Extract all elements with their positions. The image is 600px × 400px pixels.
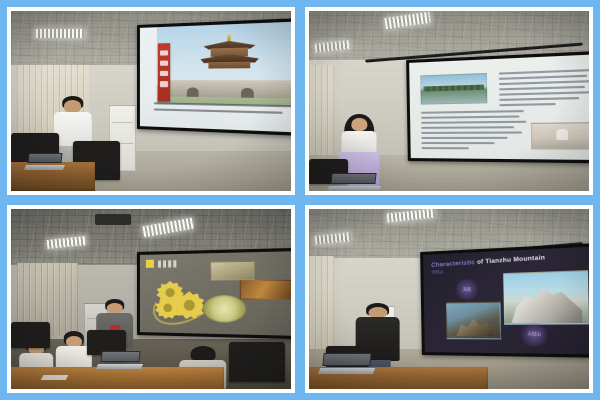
classroom-scene-tl bbox=[11, 11, 291, 191]
slide-text-block-1 bbox=[499, 69, 589, 110]
curtain-br bbox=[309, 256, 334, 350]
slide-title-accent: Characteristic bbox=[432, 260, 476, 269]
collage-cell-bottom-left[interactable] bbox=[7, 205, 295, 393]
projector-screen-br: Characteristic of Tianzhu Mountain 天柱山 天… bbox=[420, 242, 589, 357]
laptop-tr bbox=[331, 173, 376, 191]
slide-red-banner bbox=[158, 43, 170, 102]
slide-halo-icon-2: 天柱山 bbox=[519, 322, 550, 347]
gear-icon-2 bbox=[177, 295, 201, 316]
slide-photo-fried bbox=[240, 280, 291, 299]
ceiling-projector-bl bbox=[95, 214, 131, 225]
slide-halo-icon-1: 天柱 bbox=[454, 278, 481, 301]
slide-text-block-2 bbox=[421, 110, 528, 153]
slide-photo-peak bbox=[503, 271, 588, 325]
screen-surface-br: Characteristic of Tianzhu Mountain 天柱山 天… bbox=[423, 246, 589, 354]
office-chair-bl-1 bbox=[11, 322, 50, 347]
slide-drum-tower bbox=[140, 21, 291, 133]
slide-subtitle-br: 天柱山 bbox=[432, 270, 444, 277]
slide-title-br: Characteristic of Tianzhu Mountain bbox=[432, 255, 546, 269]
screen-surface-bl bbox=[140, 251, 291, 336]
ceiling-light-tl bbox=[36, 29, 84, 38]
slide-photo-dough bbox=[210, 261, 254, 281]
slide-body-text-tl bbox=[154, 103, 291, 128]
classroom-scene-bl bbox=[11, 209, 291, 389]
office-chair-bl-3 bbox=[229, 342, 285, 382]
notebook-bl bbox=[40, 375, 68, 380]
gear-icon-1 bbox=[160, 284, 180, 301]
collage-cell-top-left[interactable] bbox=[7, 7, 295, 195]
curtain-tr bbox=[309, 65, 334, 155]
laptop-br bbox=[323, 353, 371, 375]
screen-surface-tl bbox=[140, 21, 291, 133]
screen-surface-tr bbox=[409, 54, 589, 160]
photo-bottom-right: Characteristic of Tianzhu Mountain 天柱山 天… bbox=[309, 209, 589, 389]
laptop-bl bbox=[101, 351, 140, 369]
slide-photo-cliff bbox=[446, 302, 501, 340]
drum-tower-illustration bbox=[203, 33, 255, 85]
projector-screen-bl bbox=[137, 248, 291, 340]
photo-bottom-left bbox=[11, 209, 291, 389]
title-bullet-icon bbox=[146, 260, 154, 268]
classroom-scene-br: Characteristic of Tianzhu Mountain 天柱山 天… bbox=[309, 209, 589, 389]
photo-top-left bbox=[11, 11, 291, 191]
slide-process bbox=[140, 251, 291, 336]
projector-screen-tr bbox=[406, 50, 589, 163]
classroom-scene-tr bbox=[309, 11, 589, 191]
collage-cell-top-right[interactable] bbox=[305, 7, 593, 195]
slide-photo-monument bbox=[531, 121, 589, 149]
collage-cell-bottom-right[interactable]: Characteristic of Tianzhu Mountain 天柱山 天… bbox=[305, 205, 593, 393]
gear-icon-3 bbox=[158, 300, 177, 317]
slide-tianzhu-mountain: Characteristic of Tianzhu Mountain 天柱山 天… bbox=[423, 246, 589, 354]
slide-title-bl bbox=[146, 260, 176, 269]
slide-photo-pancake bbox=[203, 295, 247, 323]
projector-screen-tl bbox=[137, 18, 291, 138]
photo-collage: Characteristic of Tianzhu Mountain 天柱山 天… bbox=[0, 0, 600, 400]
slide-photo-lakeside bbox=[420, 73, 487, 104]
slide-jinan bbox=[409, 54, 589, 160]
photo-top-right bbox=[309, 11, 589, 191]
laptop-tl bbox=[28, 153, 62, 169]
slide-title-rest: of Tianzhu Mountain bbox=[475, 255, 545, 266]
